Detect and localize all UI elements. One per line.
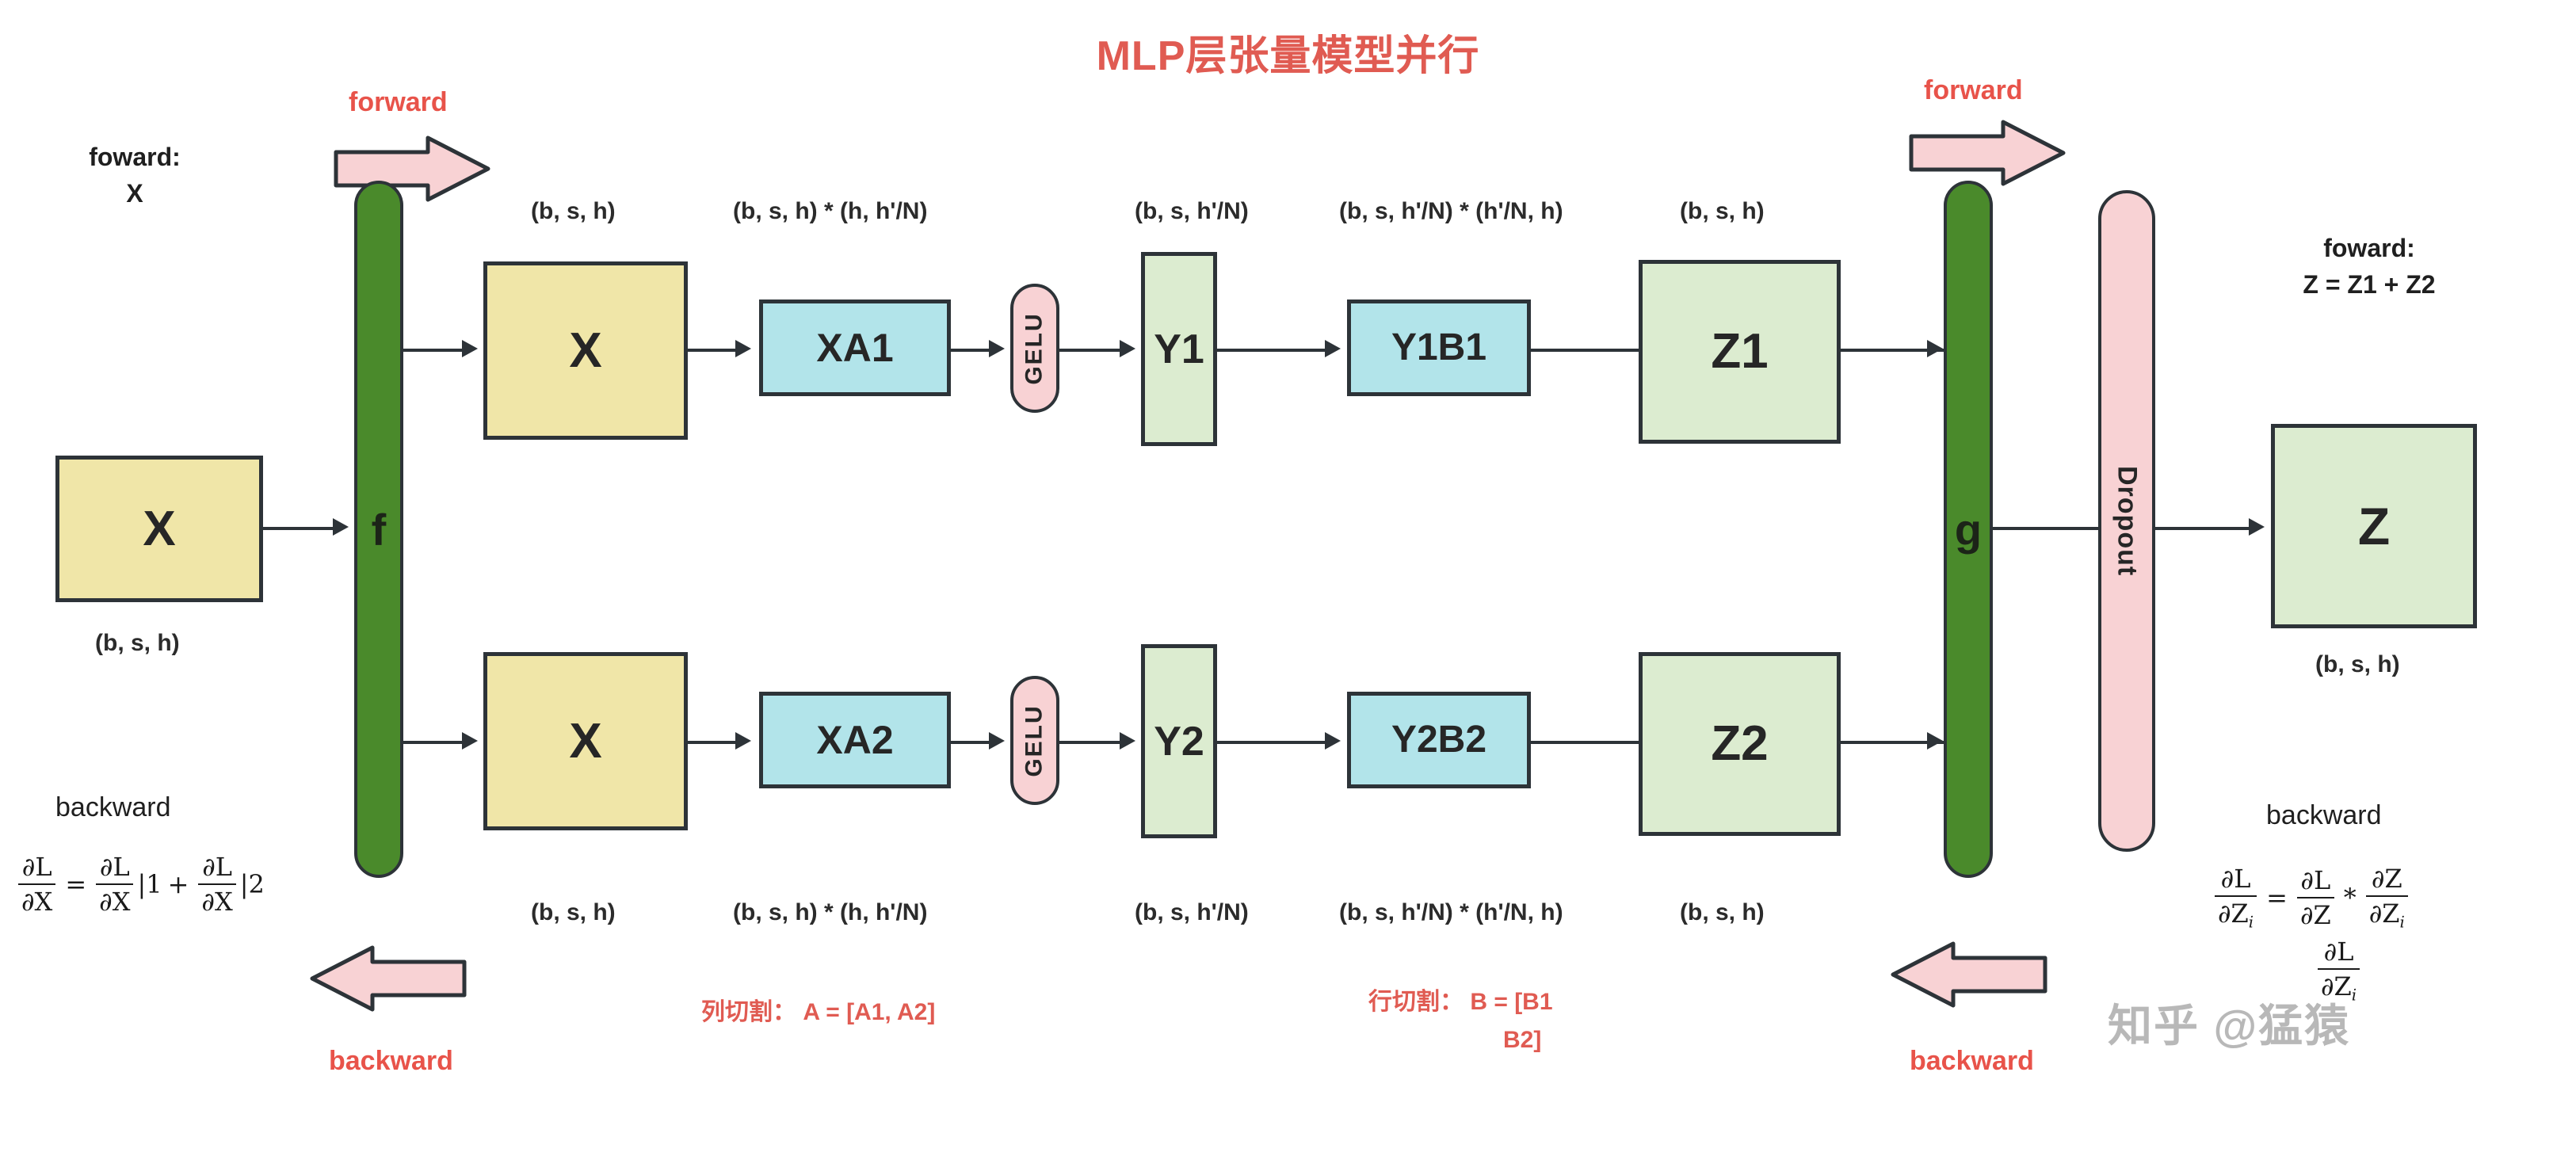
conn-bottom-y2-to-y2b2-arrowhead bbox=[1325, 732, 1341, 750]
conn-top-z1-to-g-arrowhead bbox=[1927, 340, 1943, 357]
right-backward-heading: backward bbox=[2266, 800, 2382, 831]
left-formula-eq: = bbox=[65, 869, 86, 899]
right-formula-eq: = bbox=[2266, 883, 2288, 913]
top-y-label: Y1 bbox=[1154, 329, 1204, 370]
left-forward-note-line1: foward: bbox=[48, 139, 222, 175]
conn-bottom-gelu-to-y2-arrowhead bbox=[1120, 732, 1135, 750]
conn-top-y1-to-y1b1-arrowhead bbox=[1325, 340, 1341, 357]
conn-bottom-x-to-xa2-arrowhead bbox=[735, 732, 751, 750]
top-y-box: Y1 bbox=[1141, 252, 1217, 446]
page-title: MLP层张量模型并行 bbox=[0, 22, 2576, 82]
bottom-z-box: Z2 bbox=[1639, 652, 1841, 836]
top-gelu-label: GELU bbox=[1021, 312, 1048, 384]
bottom-y-label: Y2 bbox=[1154, 721, 1204, 762]
right-forward-label: forward bbox=[1924, 75, 2023, 106]
top-z-label: Z1 bbox=[1711, 327, 1768, 376]
left-formula-term1-suffix: |1 bbox=[137, 869, 162, 899]
top-z-box: Z1 bbox=[1639, 260, 1841, 444]
left-formula-lhs: ∂L ∂X bbox=[18, 852, 55, 917]
left-backward-formula: ∂L ∂X = ∂L ∂X |1 + ∂L ∂X |2 bbox=[14, 852, 265, 917]
conn-top-y1b1-to-z1 bbox=[1531, 349, 1648, 352]
conn-top-x-to-xa1 bbox=[688, 349, 738, 352]
bottom-yb-shape: (b, s, h'/N) * (h'/N, h) bbox=[1339, 899, 1563, 926]
conn-f-to-x1 bbox=[403, 349, 465, 352]
top-yb-box: Y1B1 bbox=[1347, 299, 1531, 396]
input-x-box: X bbox=[55, 456, 263, 602]
bottom-z-label: Z2 bbox=[1711, 719, 1768, 769]
f-operator-label: f bbox=[372, 504, 387, 555]
conn-top-gelu-to-y1-arrowhead bbox=[1120, 340, 1135, 357]
f-operator-bar: f bbox=[354, 181, 403, 878]
output-z-shape: (b, s, h) bbox=[2315, 651, 2400, 678]
right-formula-lhs: ∂L ∂Zi bbox=[2215, 864, 2257, 931]
top-x-box: X bbox=[483, 261, 688, 440]
bottom-x-shape: (b, s, h) bbox=[531, 899, 616, 926]
left-forward-note: foward: X bbox=[48, 139, 222, 212]
right-forward-note-line1: foward: bbox=[2211, 230, 2528, 266]
conn-f-to-x1-arrowhead bbox=[462, 340, 478, 357]
input-x-shape: (b, s, h) bbox=[95, 630, 180, 657]
conn-bottom-y2-to-y2b2 bbox=[1217, 741, 1328, 744]
conn-bottom-xa2-to-gelu-arrowhead bbox=[989, 732, 1005, 750]
conn-bottom-xa2-to-gelu bbox=[951, 741, 992, 744]
right-forward-note-line2: Z = Z1 + Z2 bbox=[2211, 266, 2528, 303]
g-operator-label: g bbox=[1955, 504, 1982, 555]
left-backward-label: backward bbox=[329, 1046, 453, 1077]
conn-g-to-dropout bbox=[1993, 527, 2102, 530]
conn-dropout-to-z-arrowhead bbox=[2249, 518, 2265, 536]
conn-top-xa1-to-gelu-arrowhead bbox=[989, 340, 1005, 357]
right-backward-label: backward bbox=[1910, 1046, 2034, 1077]
conn-bottom-z2-to-g-arrowhead bbox=[1927, 732, 1943, 750]
conn-f-to-x2 bbox=[403, 741, 465, 744]
right-backward-formula: ∂L ∂Zi = ∂L ∂Z * ∂Z ∂Zi bbox=[2211, 864, 2412, 931]
right-backward-arrow-icon bbox=[1890, 939, 2048, 1010]
top-matmul-box: XA1 bbox=[759, 299, 951, 396]
bottom-yb-label: Y2B2 bbox=[1391, 721, 1486, 759]
conn-top-y1-to-y1b1 bbox=[1217, 349, 1328, 352]
top-y-shape: (b, s, h'/N) bbox=[1135, 198, 1249, 225]
right-formula-term2: ∂Z ∂Zi bbox=[2366, 864, 2408, 931]
conn-bottom-x-to-xa2 bbox=[688, 741, 738, 744]
conn-x-to-f-arrowhead bbox=[333, 518, 349, 536]
bottom-matmul-shape: (b, s, h) * (h, h'/N) bbox=[733, 899, 927, 926]
top-gelu-pill: GELU bbox=[1010, 284, 1059, 413]
left-formula-term2-suffix: |2 bbox=[240, 869, 265, 899]
input-x-label: X bbox=[143, 505, 175, 554]
top-z-shape: (b, s, h) bbox=[1680, 198, 1765, 225]
conn-dropout-to-z bbox=[2155, 527, 2254, 530]
left-formula-term1: ∂L ∂X bbox=[96, 852, 133, 917]
top-matmul-shape: (b, s, h) * (h, h'/N) bbox=[733, 198, 927, 225]
bottom-gelu-label: GELU bbox=[1021, 704, 1048, 776]
top-matmul-label: XA1 bbox=[816, 328, 893, 368]
diagram-canvas: MLP层张量模型并行 foward: X forward X (b, s, h)… bbox=[0, 0, 2576, 1156]
bottom-gelu-pill: GELU bbox=[1010, 676, 1059, 805]
conn-x-to-f bbox=[263, 527, 336, 530]
left-forward-label: forward bbox=[349, 87, 448, 118]
right-forward-note: foward: Z = Z1 + Z2 bbox=[2211, 230, 2528, 303]
output-z-box: Z bbox=[2271, 424, 2477, 628]
dropout-label: Dropout bbox=[2112, 466, 2143, 576]
left-formula-term2: ∂L ∂X bbox=[198, 852, 235, 917]
bottom-matmul-label: XA2 bbox=[816, 720, 893, 760]
bottom-matmul-box: XA2 bbox=[759, 692, 951, 788]
conn-bottom-y2b2-to-z2 bbox=[1531, 741, 1648, 744]
bottom-x-box: X bbox=[483, 652, 688, 830]
left-backward-arrow-icon bbox=[309, 943, 467, 1014]
bottom-y-shape: (b, s, h'/N) bbox=[1135, 899, 1249, 926]
top-x-shape: (b, s, h) bbox=[531, 198, 616, 225]
conn-top-gelu-to-y1 bbox=[1059, 349, 1123, 352]
right-formula-term1: ∂L ∂Z bbox=[2297, 865, 2334, 930]
conn-top-xa1-to-gelu bbox=[951, 349, 992, 352]
right-formula-mul: * bbox=[2344, 883, 2357, 913]
conn-top-x-to-xa1-arrowhead bbox=[735, 340, 751, 357]
bottom-z-shape: (b, s, h) bbox=[1680, 899, 1765, 926]
dropout-pill: Dropout bbox=[2098, 190, 2155, 852]
right-forward-arrow-icon bbox=[1908, 117, 2067, 189]
left-forward-note-line2: X bbox=[48, 175, 222, 212]
bottom-x-label: X bbox=[569, 717, 601, 766]
row-split-note-line2: B2] bbox=[1503, 1024, 1541, 1057]
left-backward-heading: backward bbox=[55, 792, 171, 823]
bottom-y-box: Y2 bbox=[1141, 644, 1217, 838]
top-yb-label: Y1B1 bbox=[1391, 329, 1486, 367]
conn-f-to-x2-arrowhead bbox=[462, 732, 478, 750]
bottom-yb-box: Y2B2 bbox=[1347, 692, 1531, 788]
left-formula-plus: + bbox=[168, 869, 189, 899]
top-yb-shape: (b, s, h'/N) * (h'/N, h) bbox=[1339, 198, 1563, 225]
g-operator-bar: g bbox=[1944, 181, 1993, 878]
top-x-label: X bbox=[569, 326, 601, 376]
watermark: 知乎 @猛猿 bbox=[2108, 990, 2350, 1055]
row-split-note-line1: 行切割： B = [B1 bbox=[1368, 986, 1553, 1019]
conn-bottom-gelu-to-y2 bbox=[1059, 741, 1123, 744]
output-z-label: Z bbox=[2358, 500, 2390, 552]
column-split-note: 列切割： A = [A1, A2] bbox=[701, 997, 935, 1029]
